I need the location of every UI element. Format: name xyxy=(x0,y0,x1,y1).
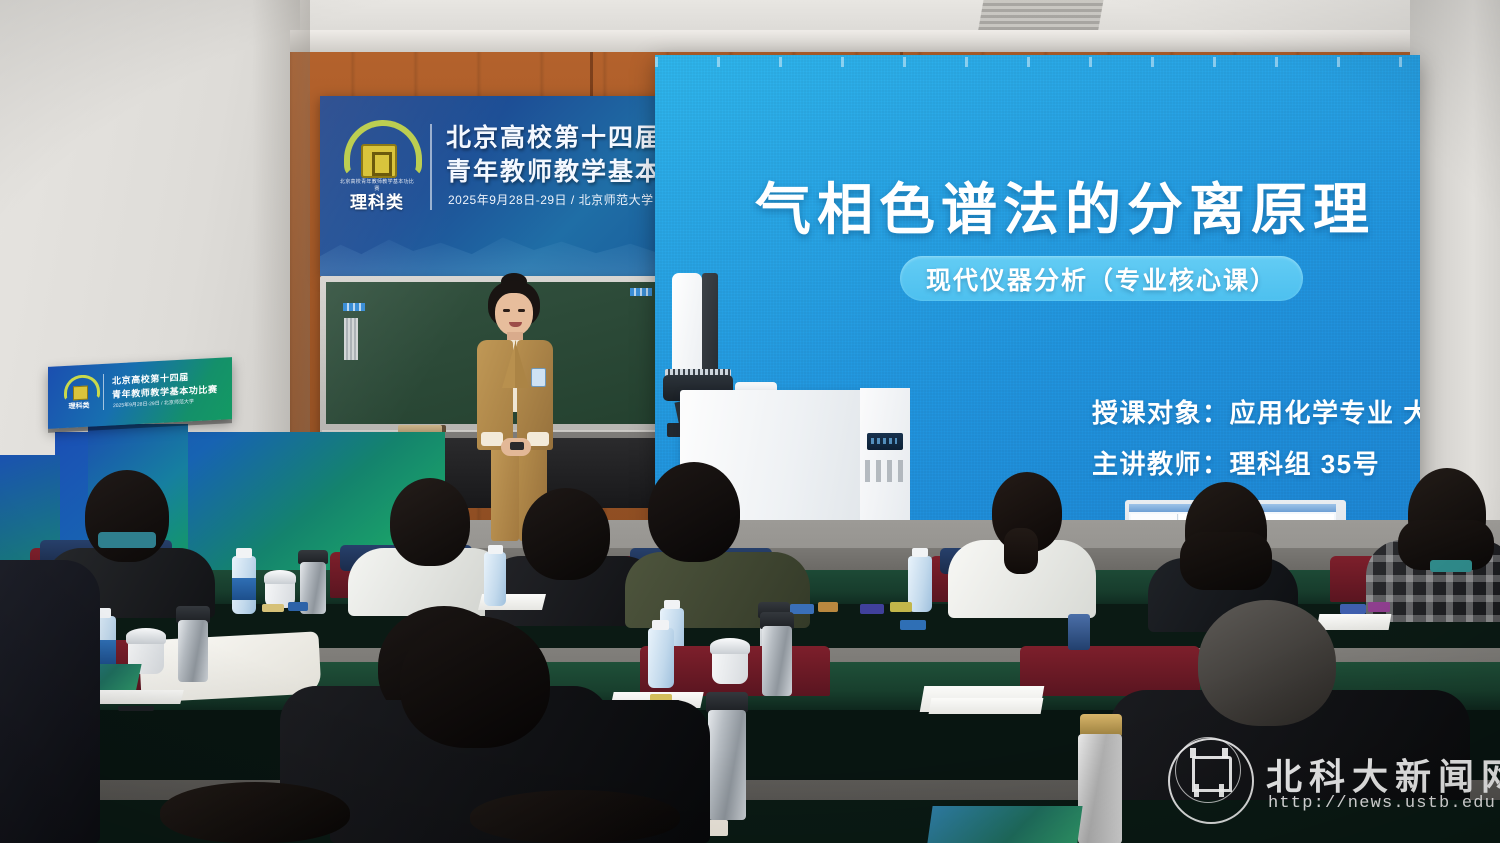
bottle-cap xyxy=(236,548,252,558)
small-box xyxy=(890,602,912,612)
watermark: 北科大新闻网 http://news.ustb.edu.cn xyxy=(1168,730,1488,830)
presenter-face xyxy=(495,293,533,336)
long-hair xyxy=(1180,532,1272,590)
eye xyxy=(503,309,510,312)
small-box xyxy=(1368,602,1390,612)
small-box xyxy=(818,602,838,612)
seal-icon xyxy=(361,144,397,178)
audience-head xyxy=(1198,600,1336,726)
bottle-cap xyxy=(664,600,680,609)
lanyard xyxy=(98,532,156,548)
banner-title-line1: 北京高校第十四届 xyxy=(446,118,662,154)
presentation-clicker xyxy=(510,442,524,450)
water-bottle xyxy=(484,552,506,606)
ding-leg-icon xyxy=(1194,784,1199,797)
teacup-lid xyxy=(126,628,166,644)
water-bottle xyxy=(648,628,674,688)
lidded-teacup xyxy=(712,650,748,684)
podium-logo: 理科类 xyxy=(62,373,96,415)
audience-head xyxy=(648,462,740,562)
wall-top-trim xyxy=(290,30,1420,52)
autosampler-tower xyxy=(672,273,702,378)
eye xyxy=(518,309,525,312)
watermark-name: 北科大新闻网 xyxy=(1266,748,1500,800)
category-label: 理科类 xyxy=(338,188,416,213)
papers xyxy=(929,698,1044,714)
podium-divider xyxy=(103,374,104,410)
thermos-flask xyxy=(178,620,208,682)
small-box xyxy=(860,604,884,614)
thermos-flask xyxy=(762,626,792,696)
banner-date-venue: 2025年9月28日-29日 / 北京师范大学 xyxy=(448,191,654,208)
magnet-strip-icon xyxy=(343,303,365,311)
competition-logo: 北京高校青年教师教学基本功比赛 理科类 xyxy=(338,118,416,214)
banner-divider xyxy=(430,124,432,210)
trouser-leg-left xyxy=(491,446,519,541)
audience-head xyxy=(85,470,169,562)
podium-category-label: 理科类 xyxy=(62,400,96,412)
chair xyxy=(1020,646,1200,696)
banner-title-line2: 青年教师教学基本功比赛 xyxy=(446,152,665,188)
gc-display-panel xyxy=(867,433,903,450)
magnet-strip-icon xyxy=(630,288,652,296)
ding-handle-icon xyxy=(1190,748,1196,758)
cuff-left xyxy=(481,432,503,446)
audience-head xyxy=(160,782,350,843)
papers xyxy=(1317,614,1392,630)
teacup-lid xyxy=(710,638,750,654)
small-box xyxy=(900,620,926,630)
small-box xyxy=(288,602,308,611)
papers xyxy=(94,690,183,704)
watermark-url: http://news.ustb.edu.cn xyxy=(1268,794,1500,813)
thermos-cap xyxy=(1080,714,1122,736)
audience-head xyxy=(470,790,680,843)
led-presentation-screen[interactable]: 气相色谱法的分离原理 现代仪器分析（专业核心课） 授课对象：应用化学专业 大三年… xyxy=(655,55,1420,535)
bottle-label xyxy=(232,578,256,600)
ponytail xyxy=(1004,528,1038,574)
small-box xyxy=(262,604,284,612)
name-badge xyxy=(531,368,546,387)
slide-title: 气相色谱法的分离原理 xyxy=(755,165,1395,246)
ding-leg-icon xyxy=(1219,784,1224,797)
small-box xyxy=(1340,604,1366,614)
slide-subtitle-text: 现代仪器分析（专业核心课） xyxy=(926,261,1277,297)
teacup-lid xyxy=(264,570,296,584)
pen xyxy=(118,706,154,711)
slide-audience-line: 授课对象：应用化学专业 大三年级 xyxy=(1092,393,1420,430)
bottle-cap xyxy=(652,620,669,630)
booklet xyxy=(927,806,1082,843)
ding-handle-icon xyxy=(1222,748,1228,758)
thermos-flask xyxy=(708,710,746,820)
audience-torso xyxy=(0,560,100,843)
small-bottle xyxy=(1068,614,1090,650)
slide-subtitle-pill: 现代仪器分析（专业核心课） xyxy=(900,256,1303,301)
gc-button-row xyxy=(865,460,907,482)
audience-head xyxy=(522,488,610,580)
thermos-flask xyxy=(1078,734,1122,843)
thermos-cap xyxy=(706,692,748,712)
bottle-cap xyxy=(488,545,503,554)
lecture-hall-photo: 北京高校青年教师教学基本功比赛 理科类 北京高校第十四届 青年教师教学基本功比赛… xyxy=(0,0,1500,843)
audience-head xyxy=(400,616,550,748)
event-banner: 北京高校青年教师教学基本功比赛 理科类 北京高校第十四届 青年教师教学基本功比赛… xyxy=(320,96,665,276)
slide-instructor-line: 主讲教师：理科组 35号 xyxy=(1092,444,1380,481)
pinned-paper xyxy=(344,318,358,360)
bottle-cap xyxy=(912,548,928,557)
lanyard xyxy=(1430,560,1472,572)
screen-mount-clips xyxy=(655,57,1420,67)
small-box xyxy=(790,604,814,614)
audience-head xyxy=(390,478,470,566)
seal-icon xyxy=(73,386,88,401)
